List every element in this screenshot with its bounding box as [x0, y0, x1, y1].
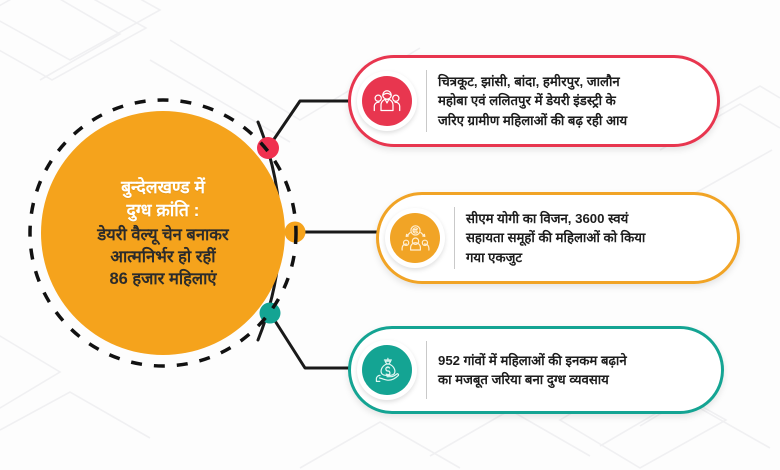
card-3-icon-ring: [357, 340, 417, 400]
card-1-icon-ring: [357, 71, 417, 131]
infographic-canvas: बुन्देलखण्ड में दुग्ध क्रांति : डेयरी वै…: [0, 0, 780, 470]
central-disc: बुन्देलखण्ड में दुग्ध क्रांति : डेयरी वै…: [41, 111, 285, 355]
card-1-text: चित्रकूट, झांसी, बांदा, हमीरपुर, जालौन म…: [427, 72, 717, 130]
women-group-icon: [372, 86, 402, 116]
central-title: बुन्देलखण्ड में दुग्ध क्रांति :: [121, 176, 205, 222]
card-2-icon-disc: [390, 213, 440, 263]
central-topic-circle: बुन्देलखण्ड में दुग्ध क्रांति : डेयरी वै…: [26, 96, 300, 370]
info-card-2[interactable]: सीएम योगी का विजन, 3600 स्वयं सहायता समू…: [376, 192, 740, 284]
card-3-text: 952 गांवों में महिलाओं की इनकम बढ़ाने का…: [427, 351, 721, 390]
info-card-1[interactable]: चित्रकूट, झांसी, बांदा, हमीरपुर, जालौन म…: [348, 55, 720, 147]
card-3-icon-disc: [362, 345, 412, 395]
self-help-group-currency-icon: [400, 223, 431, 254]
info-card-3[interactable]: 952 गांवों में महिलाओं की इनकम बढ़ाने का…: [348, 326, 724, 414]
central-subtitle: डेयरी वैल्यू चेन बनाकर आत्मनिर्भर हो रही…: [97, 224, 228, 290]
card-1-icon-disc: [362, 76, 412, 126]
card-2-icon-ring: [385, 208, 445, 268]
card-2-text: सीएम योगी का विजन, 3600 स्वयं सहायता समू…: [455, 209, 737, 267]
hand-money-bag-icon: [372, 355, 403, 386]
